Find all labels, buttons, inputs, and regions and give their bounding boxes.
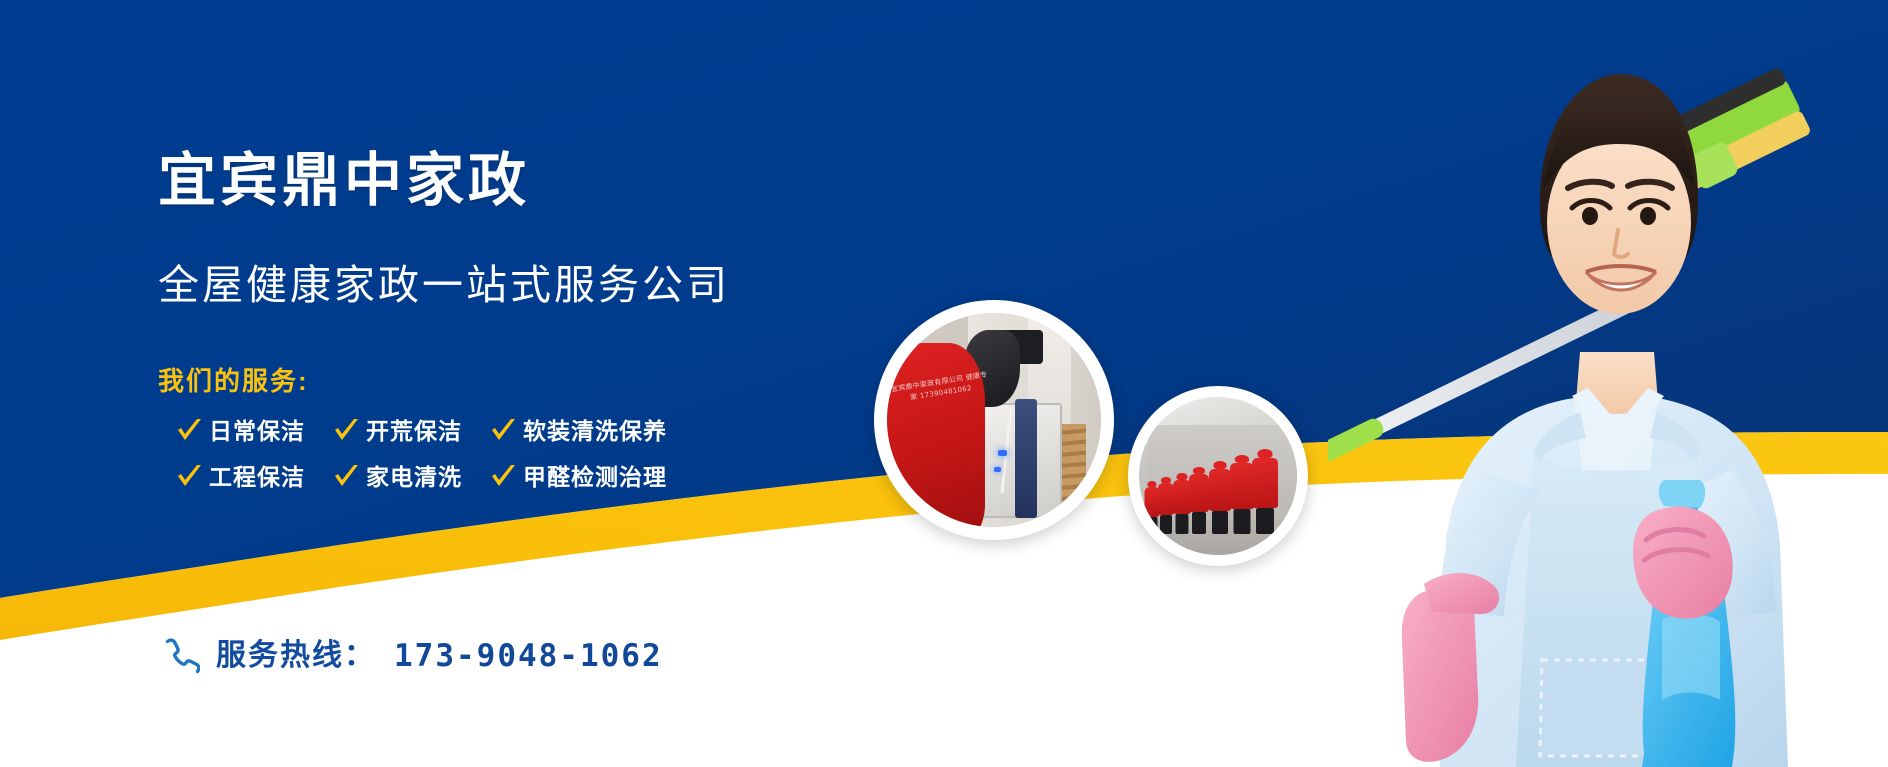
services-heading: 我们的服务: — [158, 368, 309, 394]
service-item-formaldehyde-treatment[interactable]: 甲醛检测治理 — [490, 464, 667, 490]
glove-left — [1402, 589, 1478, 762]
photo-technician-equipment-image: 宜宾鼎中家政有限公司 健康专家 17390481062 — [887, 313, 1101, 527]
services-row: 工程保洁 家电清洗 — [176, 454, 796, 500]
check-icon — [176, 418, 202, 444]
hotline[interactable]: 服务热线： 173-9048-1062 — [160, 636, 663, 676]
services-list: 日常保洁 开荒保洁 — [176, 408, 796, 500]
page-subtitle: 全屋健康家政一站式服务公司 — [158, 265, 730, 306]
hotline-label: 服务热线： — [216, 641, 376, 671]
page-title: 宜宾鼎中家政 — [158, 152, 530, 210]
promotional-banner: 宜宾鼎中家政有限公司 健康专家 17390481062 — [0, 0, 1888, 767]
photo-team-lineup-image — [1139, 397, 1297, 555]
cleaning-staff-illustration — [1328, 0, 1888, 767]
photo-technician-equipment: 宜宾鼎中家政有限公司 健康专家 17390481062 — [874, 300, 1114, 540]
check-icon — [333, 418, 359, 444]
photo-team-lineup — [1128, 386, 1308, 566]
service-item-rough-cleaning[interactable]: 开荒保洁 — [333, 418, 462, 444]
service-item-soft-furnishing-care[interactable]: 软装清洗保养 — [490, 418, 667, 444]
service-label: 工程保洁 — [209, 466, 305, 489]
check-icon — [333, 464, 359, 490]
service-item-daily-cleaning[interactable]: 日常保洁 — [176, 418, 305, 444]
hotline-number[interactable]: 173-9048-1062 — [394, 641, 663, 672]
phone-icon — [160, 636, 200, 676]
service-label: 家电清洗 — [366, 466, 462, 489]
service-label: 软装清洗保养 — [523, 420, 667, 443]
service-label: 日常保洁 — [209, 420, 305, 443]
service-label: 开荒保洁 — [366, 420, 462, 443]
check-icon — [490, 464, 516, 490]
service-item-construction-cleaning[interactable]: 工程保洁 — [176, 464, 305, 490]
service-item-appliance-cleaning[interactable]: 家电清洗 — [333, 464, 462, 490]
check-icon — [176, 464, 202, 490]
service-label: 甲醛检测治理 — [523, 466, 667, 489]
services-row: 日常保洁 开荒保洁 — [176, 408, 796, 454]
check-icon — [490, 418, 516, 444]
